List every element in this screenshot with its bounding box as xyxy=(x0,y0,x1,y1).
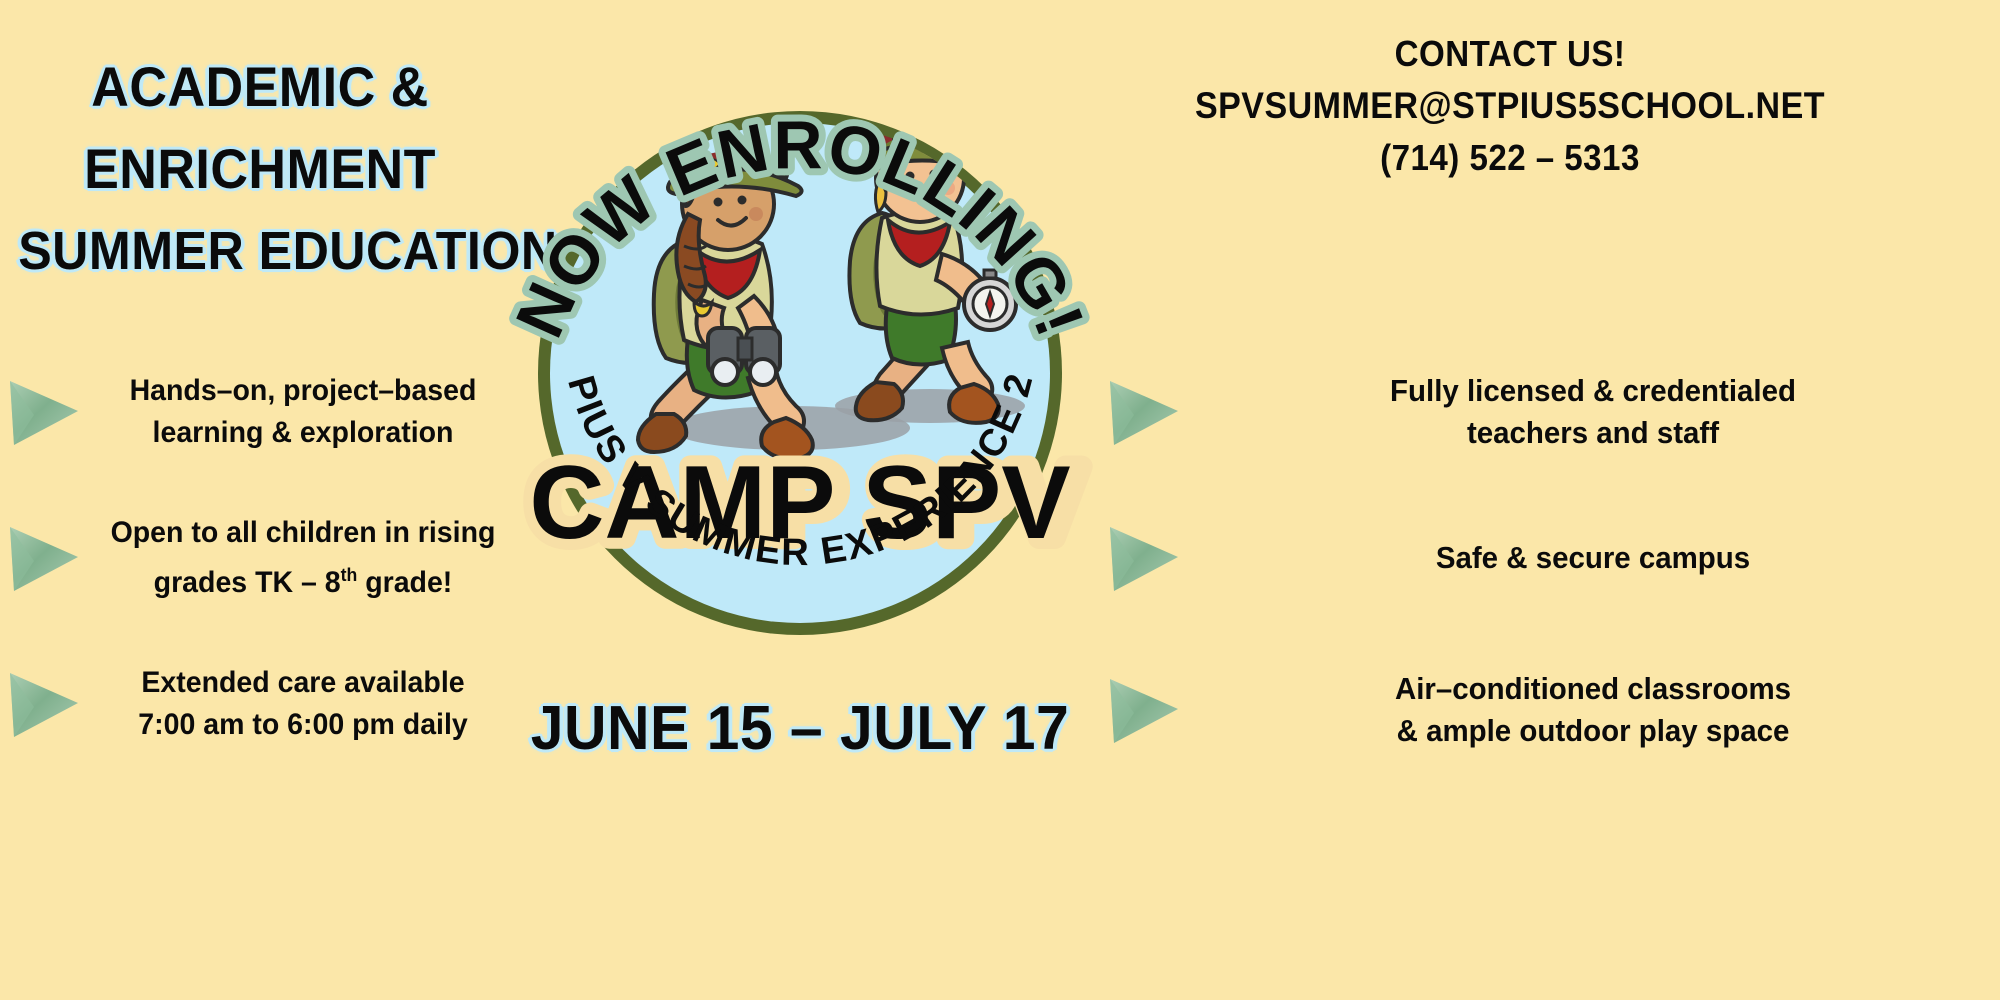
list-item-line: Open to all children in rising xyxy=(97,512,509,554)
list-item-text: Open to all children in rising grades TK… xyxy=(97,512,509,604)
date-range-text: JUNE 15 – JULY 17 xyxy=(515,690,1085,768)
list-item: Hands–on, project–based learning & explo… xyxy=(0,362,520,462)
list-item-text: Safe & secure campus xyxy=(1206,537,1979,579)
contact-phone[interactable]: (714) 522 – 5313 xyxy=(1078,132,1943,184)
feature-list-left: Hands–on, project–based learning & explo… xyxy=(0,340,520,800)
grade-range: grades TK – 8 xyxy=(154,566,341,599)
triangle-bullet-icon xyxy=(1100,369,1186,455)
feature-list-right: Fully licensed & credentialed teachers a… xyxy=(1100,340,2000,806)
contact-email[interactable]: SPVSUMMER@STPIUS5SCHOOL.NET xyxy=(1078,80,1943,132)
camp-date-range: JUNE 15 – JULY 17 xyxy=(500,690,1100,768)
list-item: Fully licensed & credentialed teachers a… xyxy=(1100,362,2000,462)
list-item-text: Air–conditioned classrooms & ample outdo… xyxy=(1206,668,1979,752)
list-item-line: learning & exploration xyxy=(97,412,509,454)
headline-line-1: ACADEMIC & xyxy=(18,46,502,128)
page-title: ACADEMIC & ENRICHMENT SUMMER EDUCATION xyxy=(0,46,520,292)
list-item-line-grades: grades TK – 8th grade! xyxy=(97,554,509,604)
list-item-text: Fully licensed & credentialed teachers a… xyxy=(1206,370,1979,454)
list-item-line: teachers and staff xyxy=(1206,412,1979,454)
list-item: Open to all children in rising grades TK… xyxy=(0,508,520,608)
list-item: Air–conditioned classrooms & ample outdo… xyxy=(1100,660,2000,760)
headline-line-3: SUMMER EDUCATION xyxy=(18,210,502,292)
list-item-line: Extended care available xyxy=(97,662,509,704)
headline-line-2: ENRICHMENT xyxy=(18,128,502,210)
list-item: Safe & secure campus xyxy=(1100,508,2000,608)
list-item-line: Hands–on, project–based xyxy=(97,370,509,412)
list-item: Extended care available 7:00 am to 6:00 … xyxy=(0,654,520,754)
contact-heading: CONTACT US! xyxy=(1078,28,1943,80)
triangle-bullet-icon xyxy=(0,661,86,747)
camp-spv-promotional-banner: ACADEMIC & ENRICHMENT SUMMER EDUCATION C… xyxy=(0,0,2000,1000)
contact-block: CONTACT US! SPVSUMMER@STPIUS5SCHOOL.NET … xyxy=(1040,28,1980,184)
list-item-line: Fully licensed & credentialed xyxy=(1206,370,1979,412)
list-item-line: 7:00 am to 6:00 pm daily xyxy=(97,704,509,746)
list-item-text: Extended care available 7:00 am to 6:00 … xyxy=(97,662,509,746)
triangle-bullet-icon xyxy=(1100,667,1186,753)
grade-tail: grade! xyxy=(357,566,452,599)
camp-logo-badge: CAMP SPV CAMP SPV NOW ENROLLING! NOW ENR… xyxy=(490,28,1110,708)
list-item-line: Air–conditioned classrooms xyxy=(1206,668,1979,710)
triangle-bullet-icon xyxy=(0,515,86,601)
triangle-bullet-icon xyxy=(0,369,86,455)
list-item-line: Safe & secure campus xyxy=(1206,537,1979,579)
list-item-line: & ample outdoor play space xyxy=(1206,710,1979,752)
triangle-bullet-icon xyxy=(1100,515,1186,601)
list-item-text: Hands–on, project–based learning & explo… xyxy=(97,370,509,454)
grade-suffix: th xyxy=(341,564,358,585)
